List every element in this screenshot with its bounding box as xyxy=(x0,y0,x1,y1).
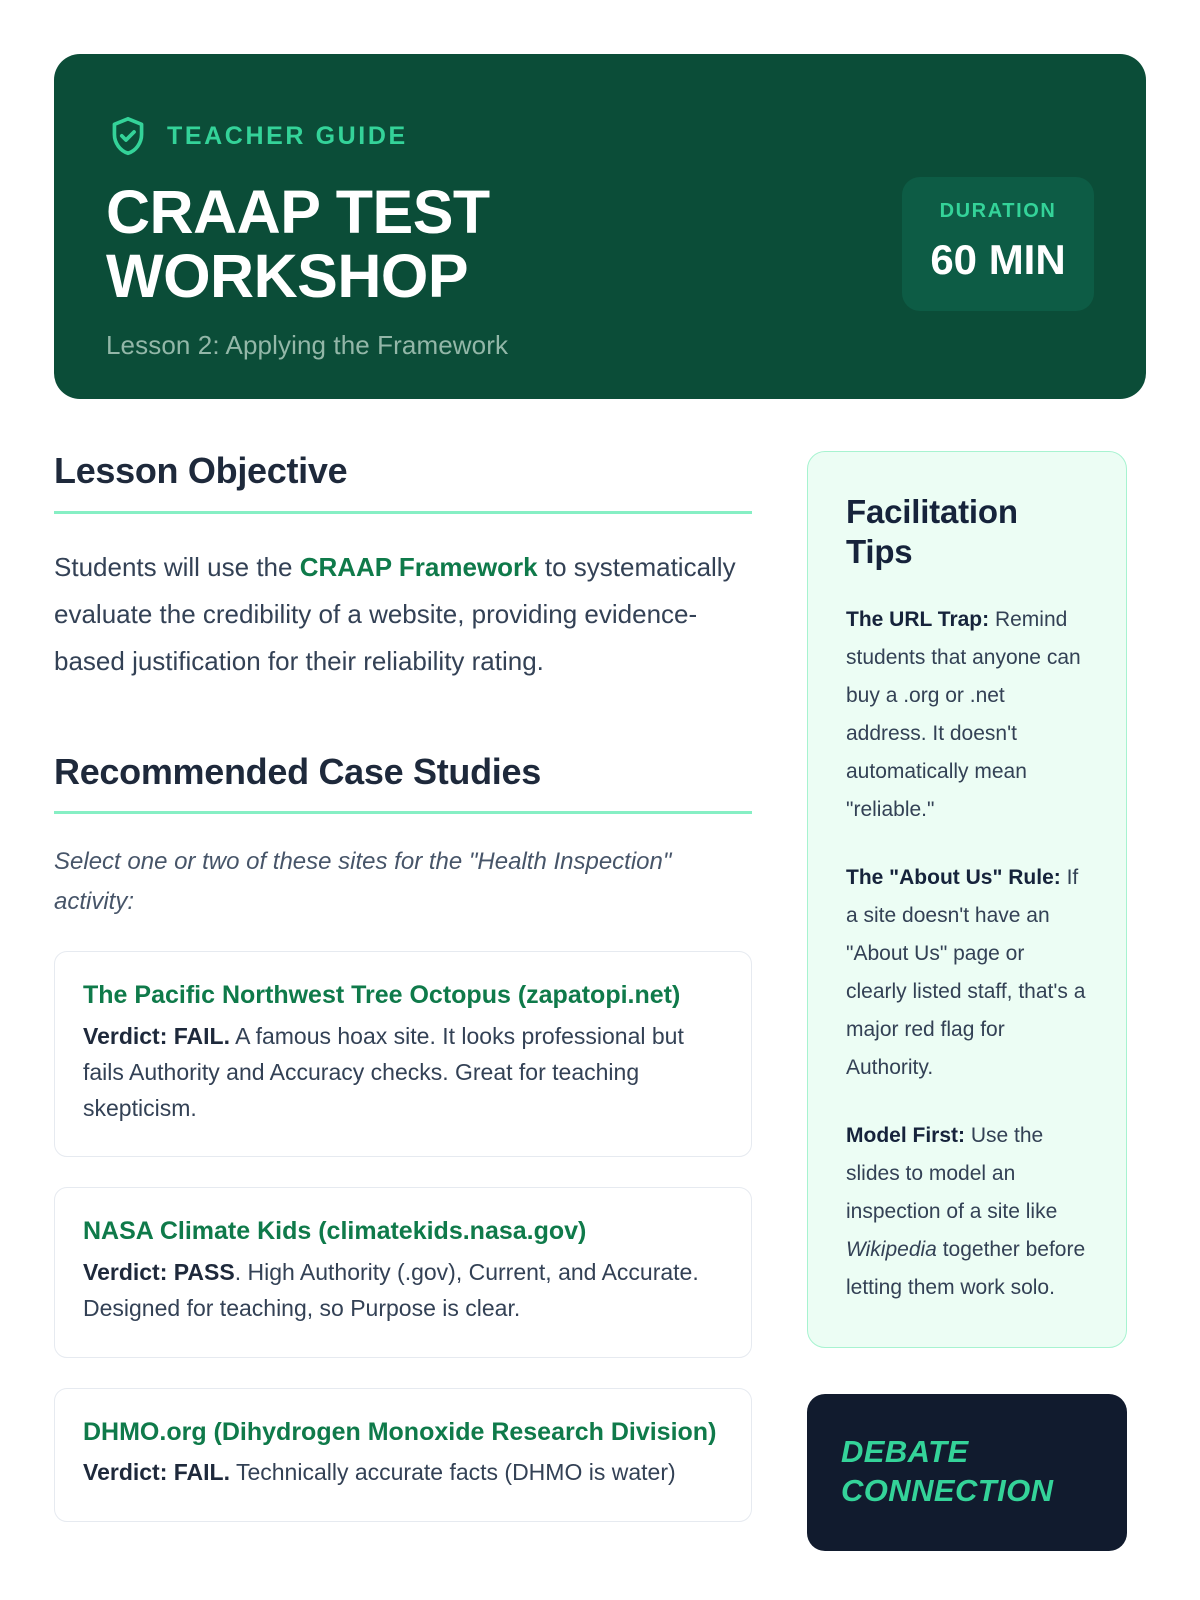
case-study-card[interactable]: The Pacific Northwest Tree Octopus (zapa… xyxy=(54,951,752,1157)
debate-connection-card: DEBATE CONNECTION xyxy=(807,1394,1127,1551)
shield-check-icon xyxy=(106,114,150,158)
tip-item: The URL Trap: Remind students that anyon… xyxy=(846,601,1090,829)
lesson-objective-heading: Lesson Objective xyxy=(54,451,752,491)
page-header: TEACHER GUIDE CRAAP TEST WORKSHOP Lesson… xyxy=(54,54,1146,399)
objective-text-before: Students will use the xyxy=(54,552,300,582)
tip-item: The "About Us" Rule: If a site doesn't h… xyxy=(846,859,1090,1087)
duration-value: 60 MIN xyxy=(912,235,1084,285)
sidebar-column: Facilitation Tips The URL Trap: Remind s… xyxy=(807,451,1127,1551)
objective-highlight: CRAAP Framework xyxy=(300,552,538,582)
case-study-detail: Technically accurate facts (DHMO is wate… xyxy=(230,1459,676,1485)
eyebrow-label: TEACHER GUIDE xyxy=(167,124,408,149)
case-study-title: The Pacific Northwest Tree Octopus (zapa… xyxy=(83,978,723,1013)
case-study-verdict: Verdict: PASS xyxy=(83,1259,235,1285)
main-column: Lesson Objective Students will use the C… xyxy=(54,451,752,1522)
tip-emphasis: Wikipedia xyxy=(846,1238,937,1261)
tip-label: Model First: xyxy=(846,1124,965,1147)
tip-body: If a site doesn't have an "About Us" pag… xyxy=(846,866,1085,1079)
duration-label: DURATION xyxy=(912,201,1084,221)
teacher-guide-page: TEACHER GUIDE CRAAP TEST WORKSHOP Lesson… xyxy=(0,0,1200,1600)
case-study-card[interactable]: NASA Climate Kids (climatekids.nasa.gov)… xyxy=(54,1187,752,1357)
header-left-block: TEACHER GUIDE CRAAP TEST WORKSHOP Lesson… xyxy=(106,104,626,361)
case-study-description: Verdict: PASS. High Authority (.gov), Cu… xyxy=(83,1255,723,1327)
section-spacer xyxy=(54,686,752,752)
facilitation-tips-heading: Facilitation Tips xyxy=(846,492,1090,573)
case-studies-helper: Select one or two of these sites for the… xyxy=(54,842,752,921)
facilitation-tips-card: Facilitation Tips The URL Trap: Remind s… xyxy=(807,451,1127,1348)
case-study-description: Verdict: FAIL. A famous hoax site. It lo… xyxy=(83,1019,723,1127)
tip-item: Model First: Use the slides to model an … xyxy=(846,1117,1090,1307)
case-study-title: DHMO.org (Dihydrogen Monoxide Research D… xyxy=(83,1415,723,1450)
case-study-title: NASA Climate Kids (climatekids.nasa.gov) xyxy=(83,1214,723,1249)
case-studies-heading: Recommended Case Studies xyxy=(54,752,752,792)
duration-badge: DURATION 60 MIN xyxy=(902,177,1094,311)
content-grid: Lesson Objective Students will use the C… xyxy=(54,451,1146,1551)
tip-label: The URL Trap: xyxy=(846,608,989,631)
page-title: CRAAP TEST WORKSHOP xyxy=(106,180,626,308)
heading-rule xyxy=(54,811,752,814)
page-subtitle: Lesson 2: Applying the Framework xyxy=(106,330,626,361)
tip-label: The "About Us" Rule: xyxy=(846,866,1061,889)
eyebrow-row: TEACHER GUIDE xyxy=(106,114,626,158)
heading-rule xyxy=(54,511,752,514)
debate-connection-title: DEBATE CONNECTION xyxy=(841,1432,1093,1511)
tip-body: Remind students that anyone can buy a .o… xyxy=(846,608,1081,821)
lesson-objective-text: Students will use the CRAAP Framework to… xyxy=(54,544,752,686)
case-study-card[interactable]: DHMO.org (Dihydrogen Monoxide Research D… xyxy=(54,1388,752,1522)
case-study-description: Verdict: FAIL. Technically accurate fact… xyxy=(83,1455,723,1491)
case-study-verdict: Verdict: FAIL. xyxy=(83,1023,230,1049)
case-study-verdict: Verdict: FAIL. xyxy=(83,1459,230,1485)
